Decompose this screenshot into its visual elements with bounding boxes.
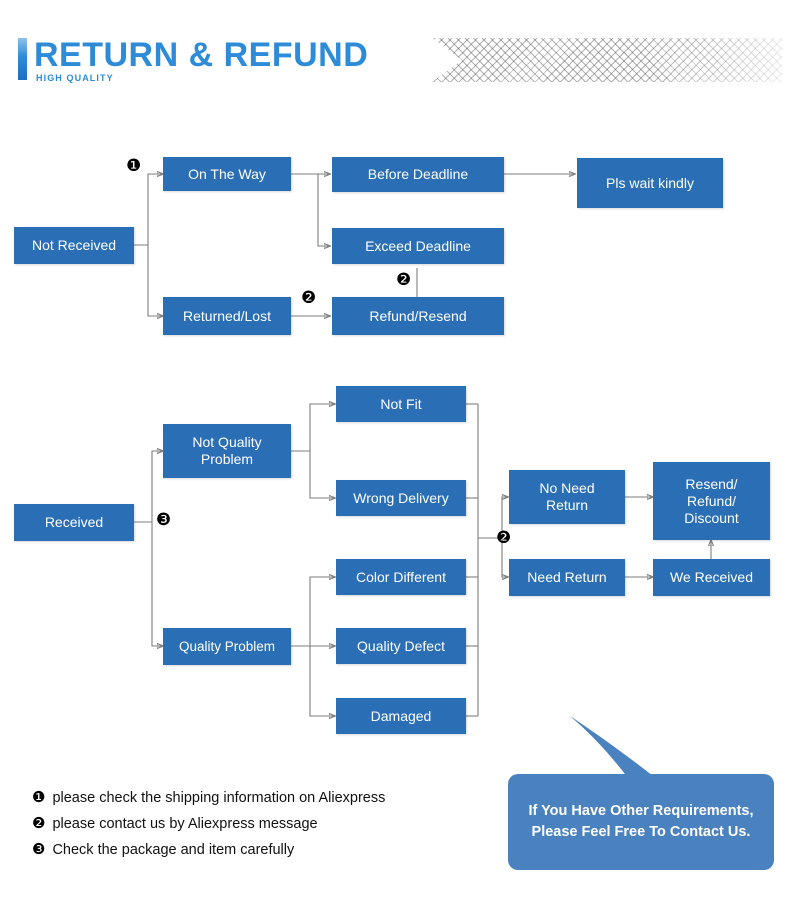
node-label: Refund/Resend — [369, 308, 466, 325]
node-label: Not Received — [32, 237, 116, 254]
hatched-ribbon-banner-icon — [432, 38, 782, 82]
node-we-received[interactable]: We Received — [653, 559, 770, 596]
node-not-fit[interactable]: Not Fit — [336, 386, 466, 422]
node-not-quality-problem[interactable]: Not Quality Problem — [163, 424, 291, 478]
node-label-line3: Discount — [684, 510, 738, 527]
node-label: Not Fit — [380, 396, 421, 413]
node-label: Need Return — [527, 569, 606, 586]
page-header: RETURN & REFUND HIGH QUALITY — [0, 0, 790, 110]
step-badge-2-returned-lost: ❷ — [301, 290, 316, 307]
legend-marker-3-icon: ❸ — [32, 840, 45, 858]
node-quality-problem[interactable]: Quality Problem — [163, 628, 291, 665]
legend-marker-1-icon: ❶ — [32, 788, 45, 806]
node-exceed-deadline[interactable]: Exceed Deadline — [332, 228, 504, 264]
node-label-line2: Problem — [201, 451, 253, 468]
step-badge-2-return-split: ❷ — [496, 530, 511, 547]
node-quality-defect[interactable]: Quality Defect — [336, 628, 466, 664]
node-label: Pls wait kindly — [606, 175, 694, 192]
node-pls-wait-kindly[interactable]: Pls wait kindly — [577, 158, 723, 208]
contact-callout: If You Have Other Requirements, Please F… — [500, 714, 780, 874]
node-label-line1: No Need — [539, 480, 594, 497]
node-label: Exceed Deadline — [365, 238, 471, 255]
page-title: RETURN & REFUND — [34, 34, 368, 76]
page-subtitle: HIGH QUALITY — [36, 73, 114, 83]
legend-marker-2-icon: ❷ — [32, 814, 45, 832]
step-badge-3-received: ❸ — [156, 512, 171, 529]
node-label-line2: Return — [546, 497, 588, 514]
node-label: Returned/Lost — [183, 308, 271, 325]
contact-message-line1: If You Have Other Requirements, — [528, 801, 753, 822]
step-badge-1-on-the-way: ❶ — [126, 158, 141, 175]
node-on-the-way[interactable]: On The Way — [163, 157, 291, 191]
legend-item-3: ❸ Check the package and item carefully — [32, 840, 472, 858]
node-label: We Received — [670, 569, 753, 586]
node-label: Color Different — [356, 569, 446, 586]
node-label: Received — [45, 514, 103, 531]
legend-text-1: please check the shipping information on… — [52, 790, 385, 806]
node-received[interactable]: Received — [14, 504, 134, 541]
node-before-deadline[interactable]: Before Deadline — [332, 157, 504, 192]
legend-text-3: Check the package and item carefully — [52, 842, 294, 858]
node-wrong-delivery[interactable]: Wrong Delivery — [336, 480, 466, 516]
node-color-different[interactable]: Color Different — [336, 559, 466, 595]
node-no-need-return[interactable]: No Need Return — [509, 470, 625, 524]
ribbon-hatch-pattern — [432, 38, 782, 82]
flowchart-page: RETURN & REFUND HIGH QUALITY — [0, 0, 790, 909]
node-resend-refund-discount[interactable]: Resend/ Refund/ Discount — [653, 462, 770, 540]
node-refund-resend[interactable]: Refund/Resend — [332, 297, 504, 335]
legend-list: ❶ please check the shipping information … — [32, 788, 472, 866]
node-label: Wrong Delivery — [353, 490, 448, 507]
node-not-received[interactable]: Not Received — [14, 227, 134, 264]
node-label-line2: Refund/ — [687, 493, 736, 510]
node-label: Before Deadline — [368, 166, 468, 183]
title-accent-bar — [18, 38, 27, 80]
legend-item-1: ❶ please check the shipping information … — [32, 788, 472, 806]
node-label: Damaged — [371, 708, 432, 725]
contact-message-box: If You Have Other Requirements, Please F… — [508, 774, 774, 870]
node-label: Quality Defect — [357, 638, 445, 655]
node-label: On The Way — [188, 166, 266, 183]
legend-item-2: ❷ please contact us by Aliexpress messag… — [32, 814, 472, 832]
step-badge-2-exceed-deadline: ❷ — [396, 272, 411, 289]
legend-text-2: please contact us by Aliexpress message — [52, 816, 317, 832]
node-damaged[interactable]: Damaged — [336, 698, 466, 734]
node-label-line1: Not Quality — [192, 434, 261, 451]
node-label-line1: Resend/ — [685, 476, 737, 493]
node-label: Quality Problem — [179, 638, 275, 655]
node-need-return[interactable]: Need Return — [509, 559, 625, 596]
contact-message-line2: Please Feel Free To Contact Us. — [532, 822, 751, 843]
node-returned-lost[interactable]: Returned/Lost — [163, 297, 291, 335]
